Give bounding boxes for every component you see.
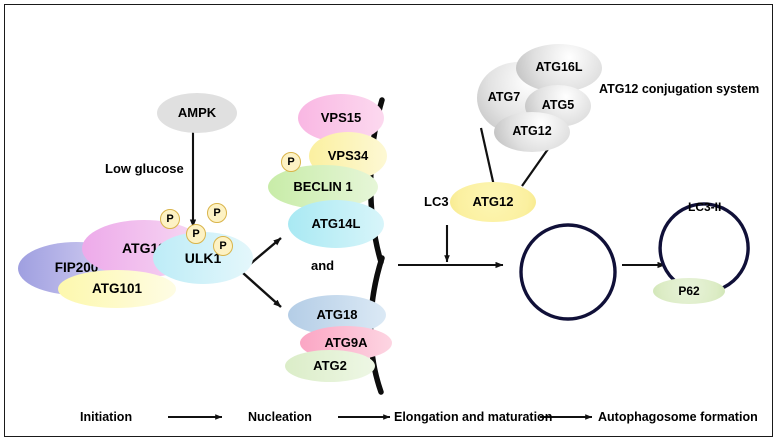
node-p62[interactable]: P62	[653, 278, 725, 304]
node-atg12-active[interactable]: ATG12	[450, 182, 536, 222]
stage-label-elongation: Elongation and maturation	[394, 410, 552, 424]
phosphate-ulk1-4: P	[213, 236, 233, 256]
stage-label-nucleation: Nucleation	[248, 410, 312, 424]
stage-label-initiation: Initiation	[80, 410, 132, 424]
phosphate-ulk1-3: P	[207, 203, 227, 223]
label-lc3: LC3	[424, 194, 449, 209]
label-lc3-ii: LC3-II	[688, 200, 721, 214]
stage-label-formation: Autophagosome formation	[598, 410, 758, 424]
node-atg14l[interactable]: ATG14L	[288, 200, 384, 248]
label-atg12-conjugation-system: ATG12 conjugation system	[599, 82, 759, 96]
node-atg101[interactable]: ATG101	[58, 270, 176, 308]
node-atg12-gray[interactable]: ATG12	[494, 112, 570, 152]
diagram-frame	[4, 4, 773, 437]
phosphate-ulk1-2: P	[186, 224, 206, 244]
node-ampk[interactable]: AMPK	[157, 93, 237, 133]
label-low-glucose: Low glucose	[105, 161, 184, 176]
diagram-canvas: AMPK Low glucose FIP200 ATG13 ATG101 ULK…	[0, 0, 778, 443]
label-and: and	[311, 258, 334, 273]
phosphate-ulk1-1: P	[160, 209, 180, 229]
phosphate-beclin1: P	[281, 152, 301, 172]
node-atg2[interactable]: ATG2	[285, 350, 375, 382]
